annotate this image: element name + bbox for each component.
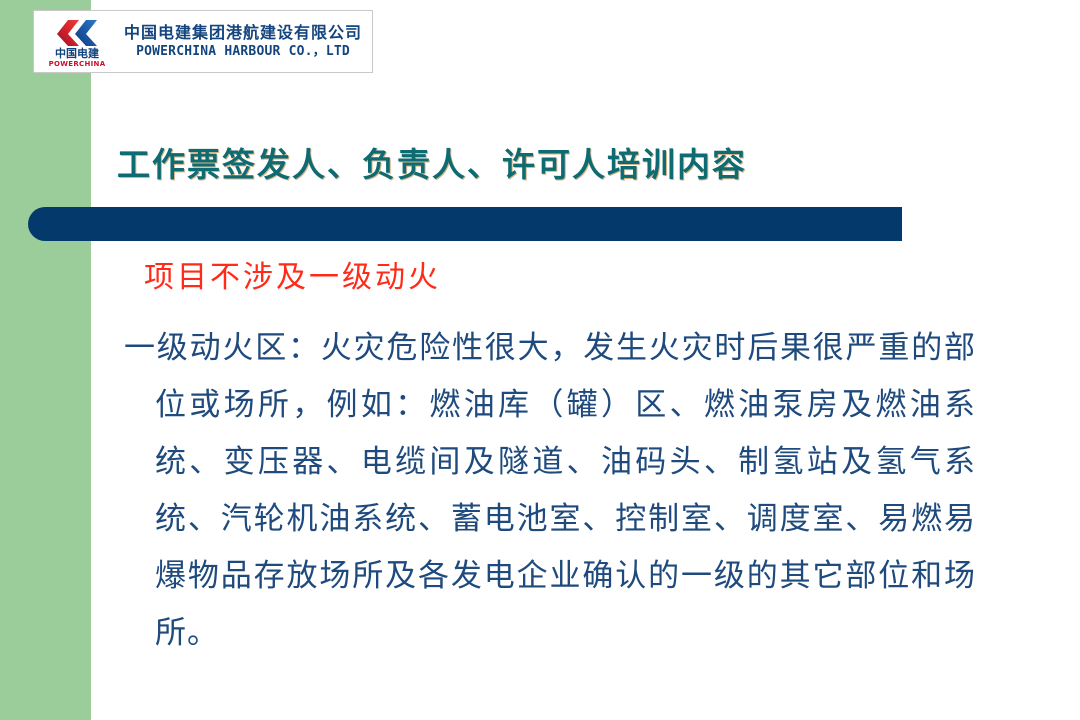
company-name-en: POWERCHINA HARBOUR CO.，LTD <box>136 43 350 61</box>
logo-brand-cn: 中国电建 <box>55 48 99 60</box>
diamond-icon <box>56 17 98 47</box>
company-logo-plate: 中国电建 POWERCHINA 中国电建集团港航建设有限公司 POWERCHIN… <box>33 10 373 73</box>
left-green-band <box>0 0 91 720</box>
red-note-line: 项目不涉及一级动火 <box>144 258 441 298</box>
logo-brand-en: POWERCHINA <box>49 60 106 69</box>
powerchina-diamond-logo: 中国电建 POWERCHINA <box>34 11 120 72</box>
slide-title: 工作票签发人、负责人、许可人培训内容 <box>117 143 957 187</box>
company-name-cn: 中国电建集团港航建设有限公司 <box>124 22 362 43</box>
title-accent-bar <box>28 207 902 241</box>
body-paragraph: 一级动火区：火灾危险性很大，发生火灾时后果很严重的部位或场所，例如：燃油库（罐）… <box>124 320 976 662</box>
company-name-block: 中国电建集团港航建设有限公司 POWERCHINA HARBOUR CO.，LT… <box>120 22 372 61</box>
slide-canvas: 中国电建 POWERCHINA 中国电建集团港航建设有限公司 POWERCHIN… <box>0 0 1080 720</box>
